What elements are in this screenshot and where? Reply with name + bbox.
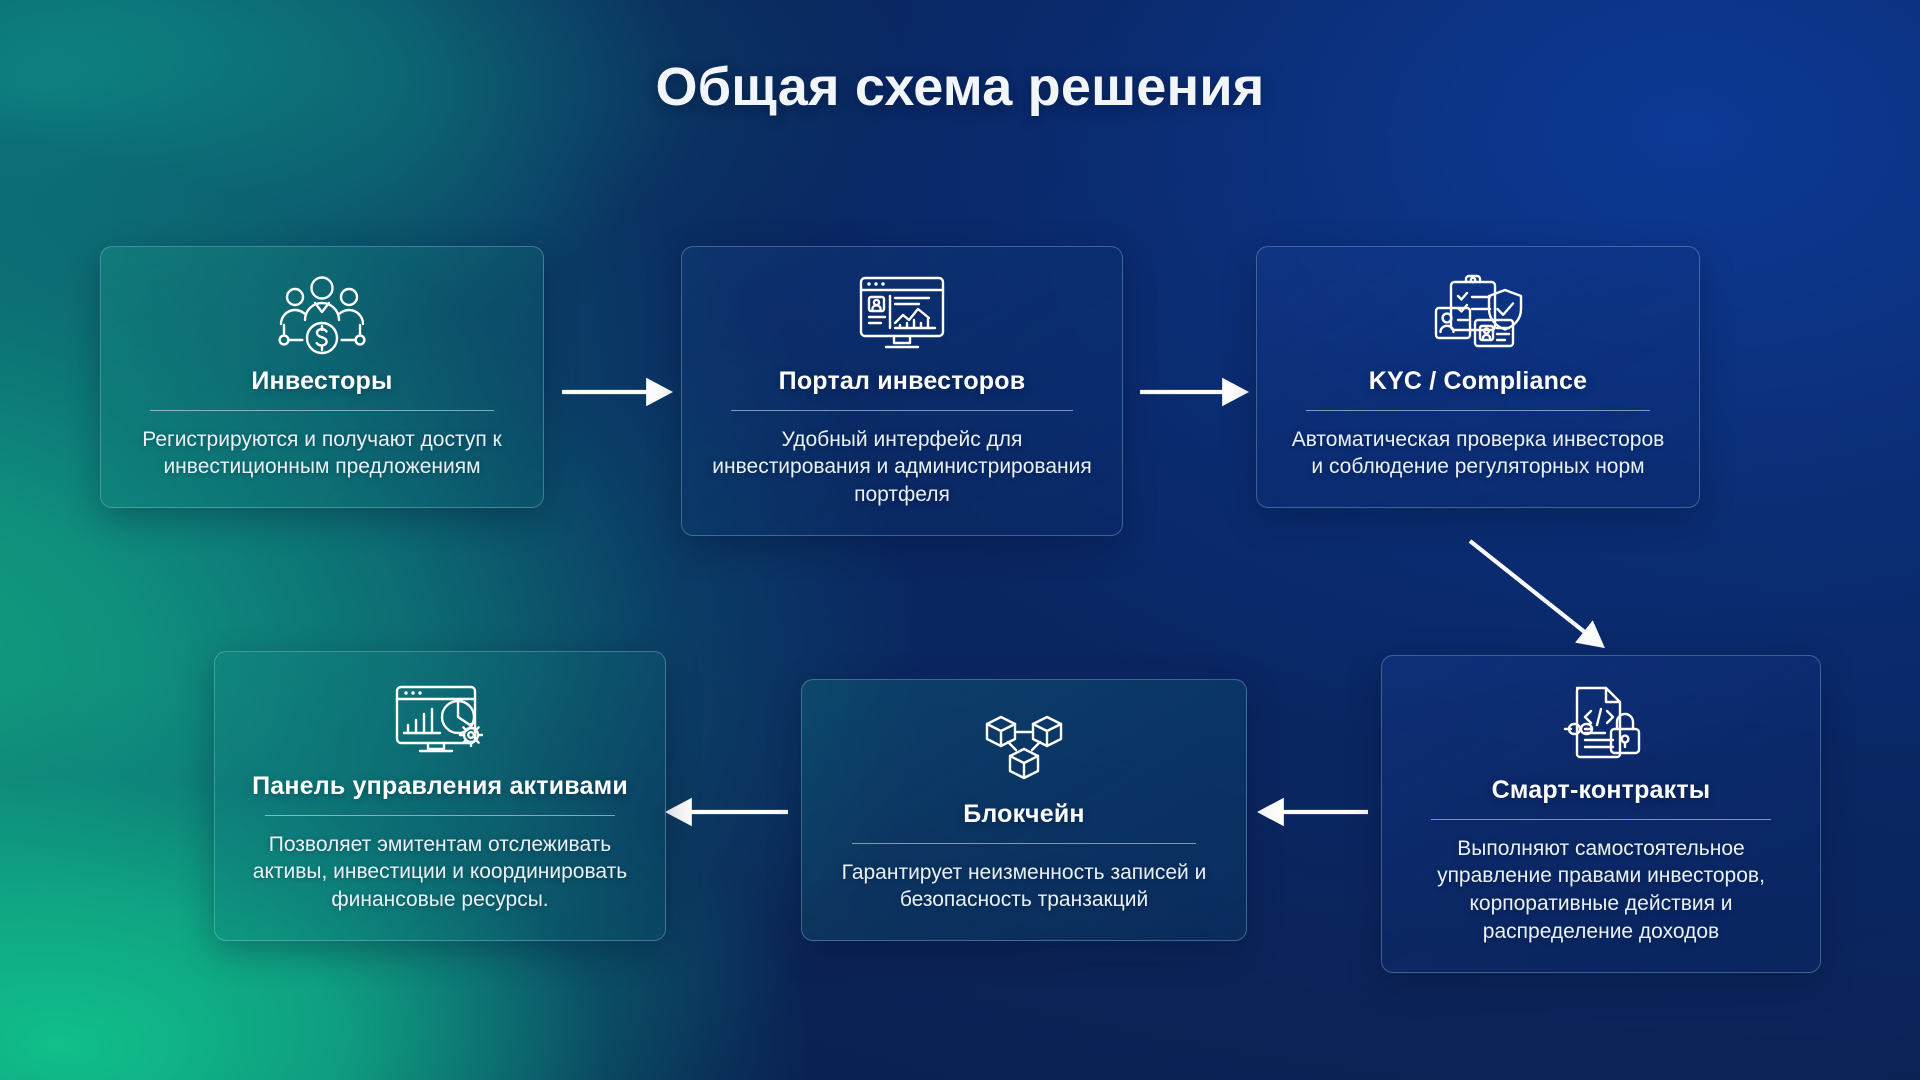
card-divider bbox=[1431, 819, 1771, 820]
card-title: Портал инвесторов bbox=[779, 367, 1026, 397]
smart-contract-code-lock-icon bbox=[1555, 680, 1647, 766]
asset-dashboard-charts-gear-icon bbox=[392, 676, 488, 762]
card-description: Выполняют самостоятельное управление пра… bbox=[1408, 835, 1794, 947]
card-title: Панель управления активами bbox=[252, 772, 628, 802]
card-description: Удобный интерфейс для инвестирования и а… bbox=[708, 426, 1096, 510]
card-divider bbox=[265, 815, 615, 816]
investors-group-dollar-icon bbox=[274, 271, 370, 357]
card-description: Гарантирует неизменность записей и безоп… bbox=[828, 859, 1220, 915]
card-divider bbox=[150, 410, 493, 411]
card-divider bbox=[731, 410, 1072, 411]
node-card-smart-contracts[interactable]: Смарт-контракты Выполняют самостоятельно… bbox=[1381, 655, 1821, 973]
monitor-dashboard-icon bbox=[856, 271, 948, 357]
node-card-blockchain[interactable]: Блокчейн Гарантирует неизменность записе… bbox=[801, 679, 1247, 941]
card-title: KYC / Compliance bbox=[1369, 367, 1588, 397]
card-title: Инвесторы bbox=[251, 367, 392, 397]
kyc-clipboard-shield-icon bbox=[1431, 271, 1525, 357]
card-description: Регистрируются и получают доступ к инвес… bbox=[127, 426, 517, 482]
card-divider bbox=[852, 843, 1197, 844]
card-divider bbox=[1306, 410, 1649, 411]
card-description: Позволяет эмитентам отслеживать активы, … bbox=[241, 831, 639, 915]
card-description: Автоматическая проверка инвесторов и соб… bbox=[1283, 426, 1673, 482]
node-card-investors[interactable]: Инвесторы Регистрируются и получают дост… bbox=[100, 246, 544, 508]
node-card-asset-dashboard[interactable]: Панель управления активами Позволяет эми… bbox=[214, 651, 666, 941]
page-title: Общая схема решения bbox=[0, 56, 1920, 118]
card-title: Блокчейн bbox=[963, 800, 1084, 830]
blockchain-cubes-icon bbox=[981, 704, 1067, 790]
node-card-portal[interactable]: Портал инвесторов Удобный интерфейс для … bbox=[681, 246, 1123, 536]
card-title: Смарт-контракты bbox=[1492, 776, 1711, 806]
node-card-kyc[interactable]: KYC / Compliance Автоматическая проверка… bbox=[1256, 246, 1700, 508]
